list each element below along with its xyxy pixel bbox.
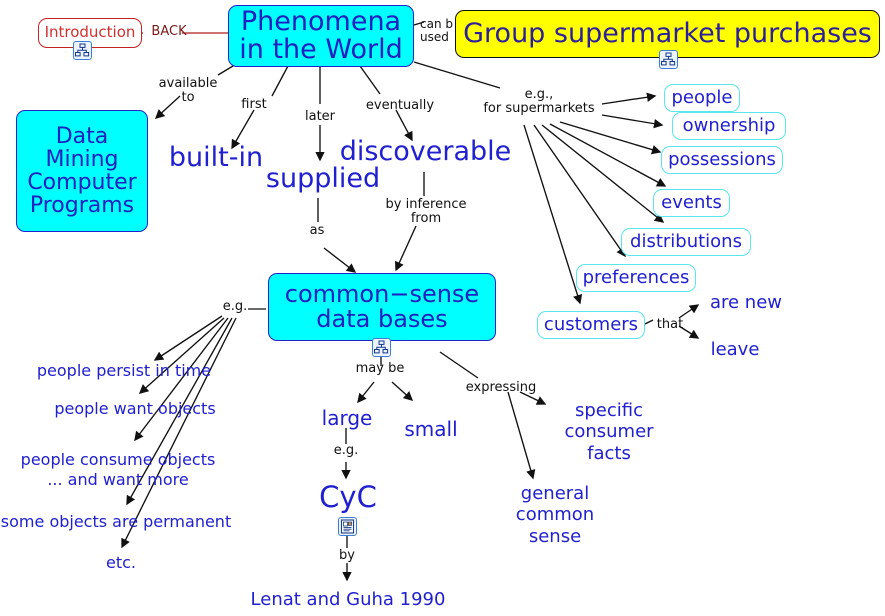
link-label-by: by [332, 549, 362, 563]
node-customers[interactable]: customers [537, 311, 645, 339]
link-label-eg-for-supermarkets: e.g., for supermarkets [475, 88, 603, 116]
link-label-first: first [234, 98, 274, 112]
link-label-eventually: eventually [364, 99, 436, 113]
node-phenomena-in-the-world[interactable]: Phenomena in the World [228, 5, 414, 67]
concept-map-icon-supermarket[interactable] [659, 50, 678, 69]
node-common-sense-data-bases[interactable]: common−sense data bases [268, 273, 496, 341]
link-label-expressing: expressing [462, 381, 540, 395]
concept-map-canvas: Introduction Phenomena in the World Grou… [0, 0, 885, 616]
node-ownership[interactable]: ownership [672, 112, 786, 140]
link-label-eg-left: e.g. [220, 300, 250, 314]
node-people-persist-in-time[interactable]: people persist in time [24, 360, 224, 382]
node-distributions[interactable]: distributions [621, 228, 751, 256]
document-resource-icon-cyc[interactable] [338, 517, 357, 536]
node-preferences[interactable]: preferences [576, 264, 696, 292]
node-large[interactable]: large [314, 405, 380, 431]
link-label-later: later [300, 110, 340, 124]
link-label-may-be: may be [352, 362, 408, 376]
node-small[interactable]: small [398, 416, 464, 442]
concept-map-icon-introduction[interactable] [73, 41, 92, 60]
node-general-common-sense[interactable]: general common sense [502, 481, 608, 549]
node-people-consume-objects[interactable]: people consume objects ... and want more [12, 450, 224, 490]
node-cyc[interactable]: CyC [310, 480, 386, 514]
node-people-want-objects[interactable]: people want objects [42, 398, 228, 420]
link-label-can-be-used: can b used [420, 18, 462, 43]
link-label-by-inference-from: by inference from [378, 198, 474, 226]
node-people[interactable]: people [664, 84, 740, 112]
node-events[interactable]: events [653, 189, 730, 217]
node-possessions[interactable]: possessions [661, 146, 783, 174]
node-specific-consumer-facts[interactable]: specific consumer facts [554, 398, 664, 466]
link-label-eg-cyc: e.g. [330, 444, 362, 458]
link-label-that: that [653, 318, 687, 332]
node-etc[interactable]: etc. [84, 552, 158, 574]
link-label-available-to: available to [148, 77, 228, 105]
node-leave[interactable]: leave [702, 338, 768, 362]
concept-map-icon-commonsense[interactable] [372, 338, 391, 357]
link-label-back: BACK [148, 25, 190, 39]
node-data-mining-computer-programs[interactable]: Data Mining Computer Programs [16, 110, 148, 232]
node-are-new[interactable]: are new [700, 291, 792, 315]
link-label-as: as [300, 224, 334, 238]
node-lenat-and-guha-1990[interactable]: Lenat and Guha 1990 [248, 588, 448, 612]
node-some-objects-are-permanent[interactable]: some objects are permanent [2, 511, 230, 533]
node-discoverable[interactable]: discoverable [328, 135, 523, 169]
